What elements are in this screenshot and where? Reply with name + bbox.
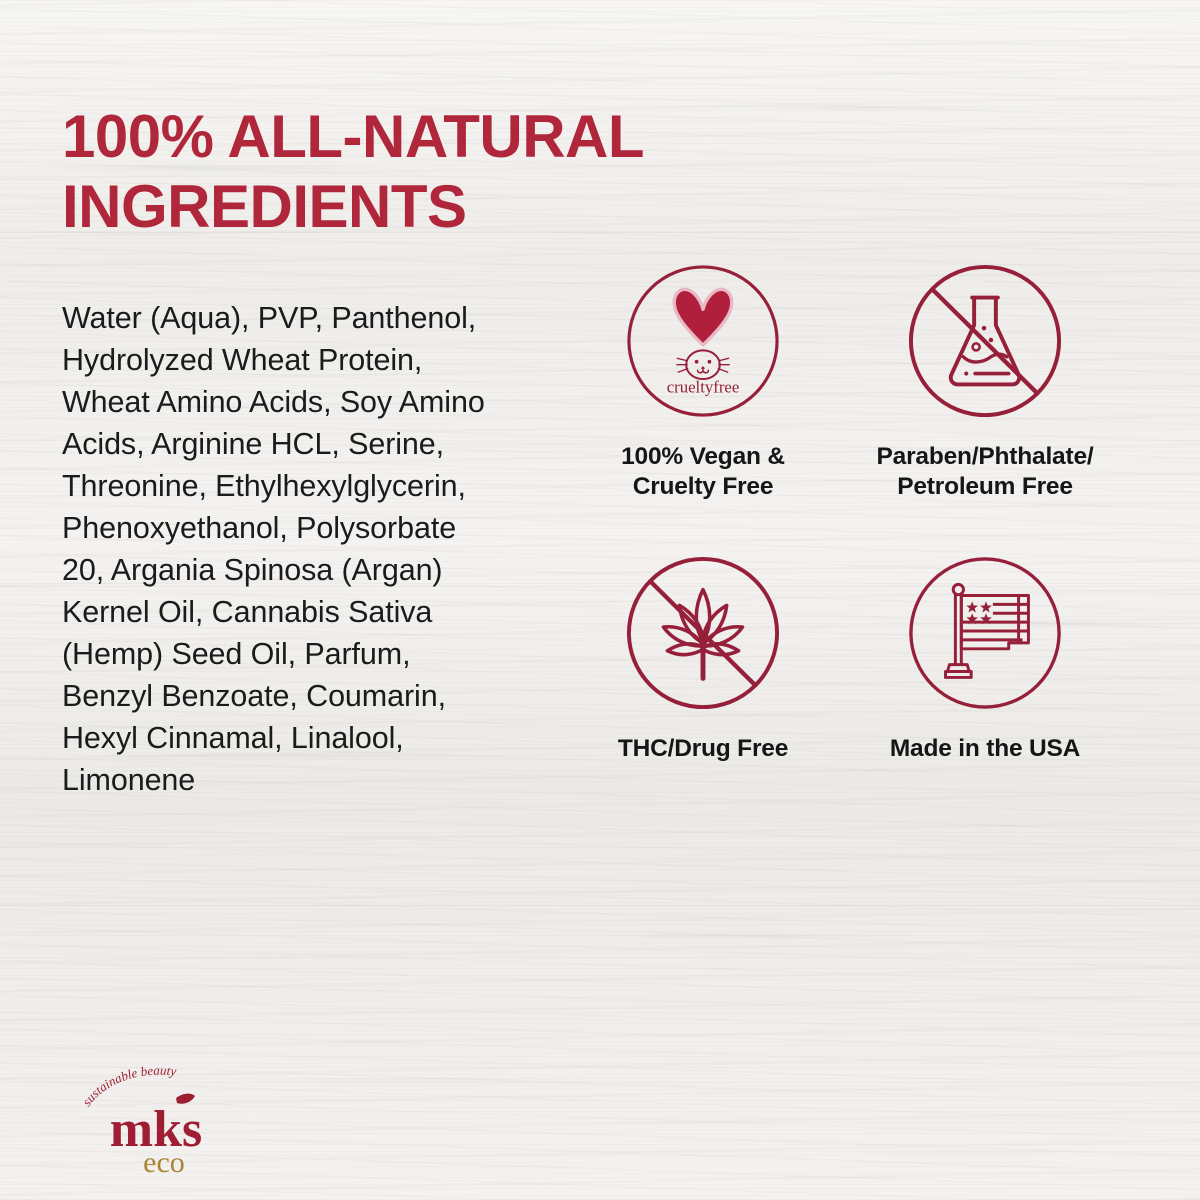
badge-thc-drug-free: THC/Drug Free xyxy=(562,554,844,764)
ingredients-list-text: Water (Aqua), PVP, Panthenol, Hydrolyzed… xyxy=(62,297,502,802)
badge-made-in-usa: Made in the USA xyxy=(844,554,1126,764)
no-chemical-flask-icon xyxy=(906,262,1064,420)
certification-badge-grid: crueltyfree 100% Vegan & Cruelty Free xyxy=(562,262,1162,764)
infographic-page: 100% All-Natural Ingredients Water (Aqua… xyxy=(0,0,1200,1200)
page-title: 100% All-Natural Ingredients xyxy=(62,102,822,241)
badge-caption: Paraben/Phthalate/ Petroleum Free xyxy=(877,442,1094,502)
badge-vegan-cruelty-free: crueltyfree 100% Vegan & Cruelty Free xyxy=(562,262,844,502)
badge-paraben-phthalate-petroleum-free: Paraben/Phthalate/ Petroleum Free xyxy=(844,262,1126,502)
badge-row-1: crueltyfree 100% Vegan & Cruelty Free xyxy=(562,262,1162,502)
badge-caption: Made in the USA xyxy=(890,734,1080,764)
cruelty-free-wordmark: crueltyfree xyxy=(667,377,740,396)
usa-flag-icon xyxy=(906,554,1064,712)
mks-eco-brand-logo: sustainable beauty mks eco xyxy=(64,1062,254,1174)
no-cannabis-leaf-icon xyxy=(624,554,782,712)
badge-caption: THC/Drug Free xyxy=(618,734,788,764)
badge-row-spacer xyxy=(562,502,1162,554)
logo-subbrand-name: eco xyxy=(143,1146,185,1174)
badge-row-2: THC/Drug Free xyxy=(562,554,1162,764)
cruelty-free-bunny-heart-icon: crueltyfree xyxy=(624,262,782,420)
badge-caption: 100% Vegan & Cruelty Free xyxy=(621,442,785,502)
